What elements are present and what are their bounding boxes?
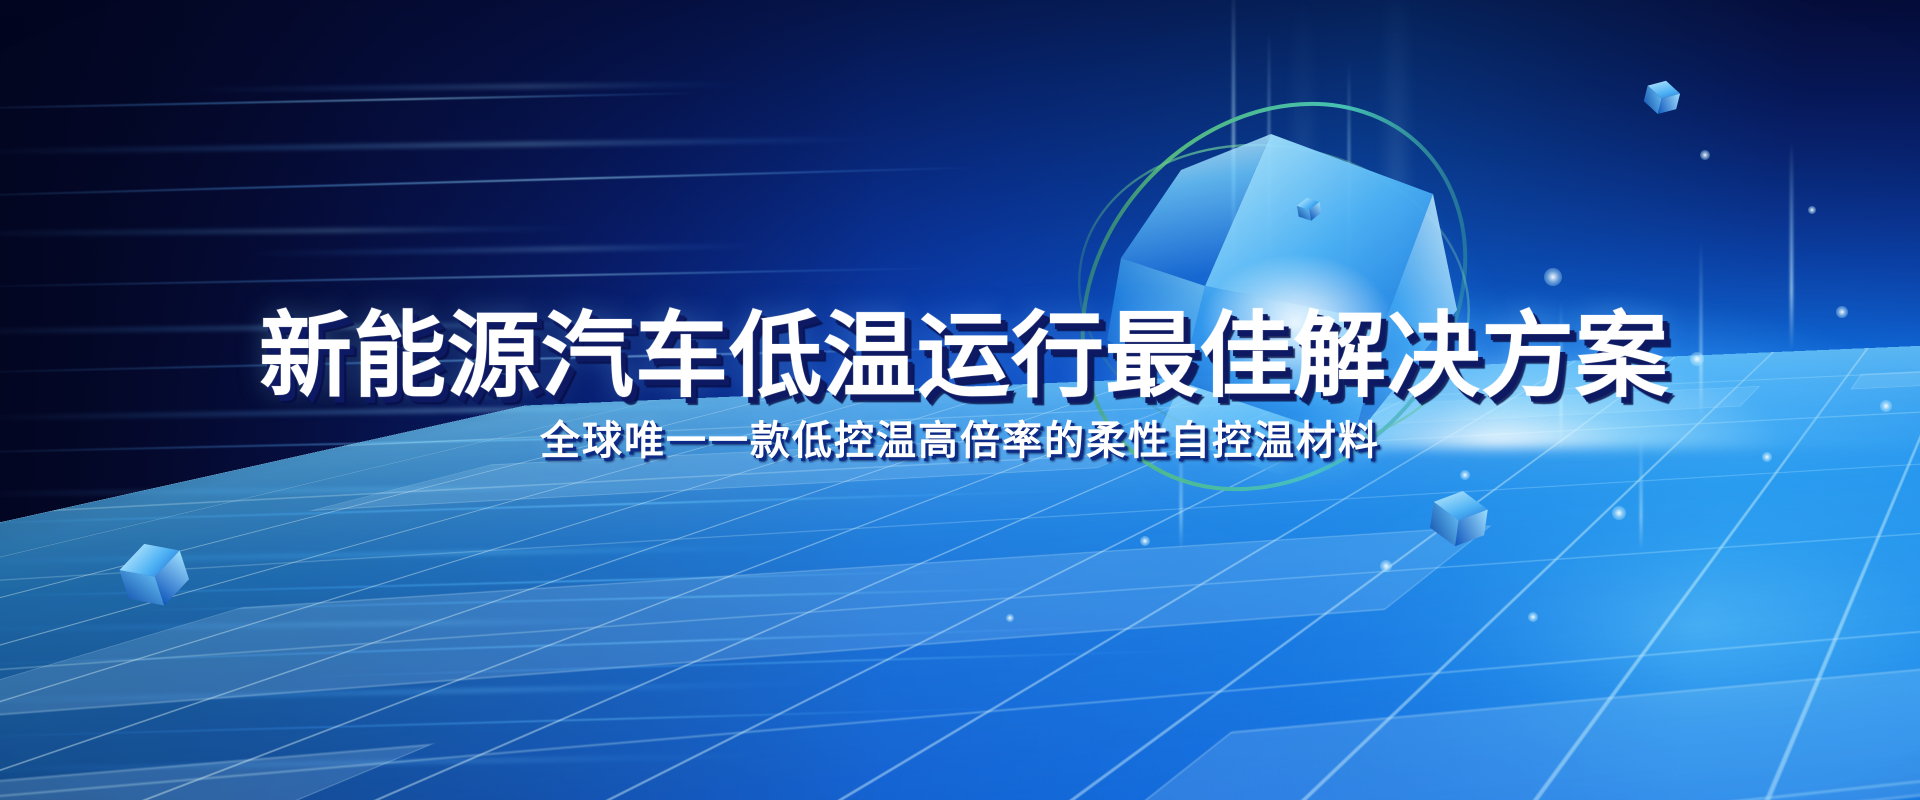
sparkle-dot	[1528, 612, 1538, 622]
sparkle-dot	[1284, 330, 1294, 340]
sparkle-dot	[1880, 400, 1892, 412]
sparkle-dot	[1006, 614, 1014, 622]
sparkle-dot	[1690, 352, 1704, 366]
sparkle-dot	[1140, 536, 1150, 546]
hero-banner: 新能源汽车低温运行最佳解决方案 全球唯一一款低控温高倍率的柔性自控温材料	[0, 0, 1920, 800]
sparkle-dot	[1808, 206, 1816, 214]
sparkles-layer	[0, 0, 1920, 800]
sparkle-dot	[1762, 452, 1772, 462]
sparkle-dot	[1700, 150, 1710, 160]
sparkle-dot	[1612, 506, 1626, 520]
sparkle-dot	[1380, 560, 1392, 572]
sparkle-dot	[1836, 306, 1848, 318]
sparkle-dot	[1544, 268, 1562, 286]
sparkle-dot	[1460, 470, 1470, 480]
